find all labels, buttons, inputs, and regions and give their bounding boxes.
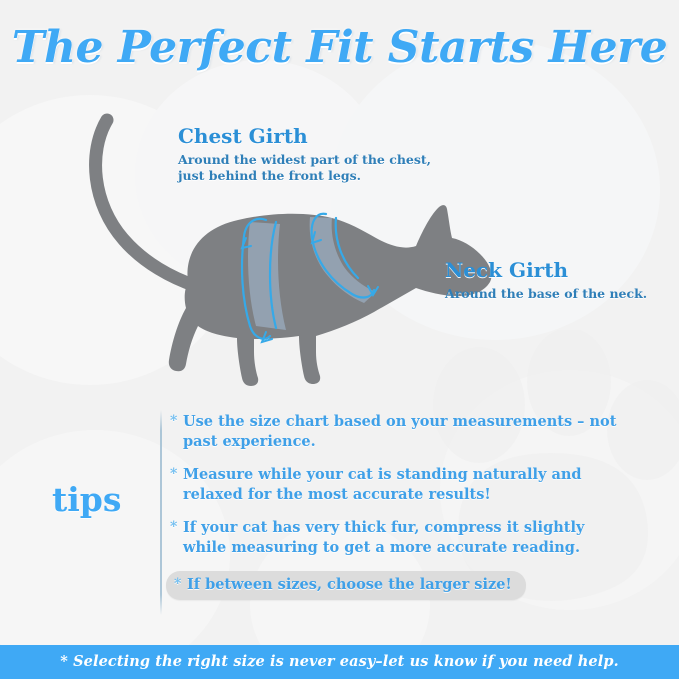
tip-text: Use the size chart based on your measure… xyxy=(183,412,620,451)
annotation-title: Chest Girth xyxy=(178,124,431,148)
tip-item-highlighted: * If between sizes, choose the larger si… xyxy=(166,571,526,600)
annotation-neck-girth: Neck Girth Around the base of the neck. xyxy=(445,258,647,302)
tip-text: Measure while your cat is standing natur… xyxy=(183,465,620,504)
infographic-page: The Perfect Fit Starts Here Chest Girth xyxy=(0,0,679,679)
tip-item: * Use the size chart based on your measu… xyxy=(170,412,620,451)
tip-item: * Measure while your cat is standing nat… xyxy=(170,465,620,504)
tips-section-label: tips xyxy=(52,482,121,518)
annotation-title: Neck Girth xyxy=(445,258,647,282)
annotation-description-line: Around the base of the neck. xyxy=(445,286,647,302)
annotation-description: Around the base of the neck. xyxy=(445,286,647,302)
bullet-marker: * xyxy=(170,465,183,504)
bullet-marker: * xyxy=(170,412,183,451)
footer-bar: * Selecting the right size is never easy… xyxy=(0,645,679,679)
tip-text: If your cat has very thick fur, compress… xyxy=(183,518,620,557)
page-title: The Perfect Fit Starts Here xyxy=(0,22,679,74)
tips-divider xyxy=(160,410,162,615)
tip-item: * If your cat has very thick fur, compre… xyxy=(170,518,620,557)
bullet-marker: * xyxy=(170,518,183,557)
tip-text: If between sizes, choose the larger size… xyxy=(187,575,512,595)
tips-list: * Use the size chart based on your measu… xyxy=(170,412,620,600)
annotation-description-line: just behind the front legs. xyxy=(178,168,431,184)
footer-text: * Selecting the right size is never easy… xyxy=(60,653,619,671)
bullet-marker: * xyxy=(174,575,187,595)
annotation-description-line: Around the widest part of the chest, xyxy=(178,152,431,168)
annotation-chest-girth: Chest Girth Around the widest part of th… xyxy=(178,124,431,183)
annotation-description: Around the widest part of the chest, jus… xyxy=(178,152,431,183)
